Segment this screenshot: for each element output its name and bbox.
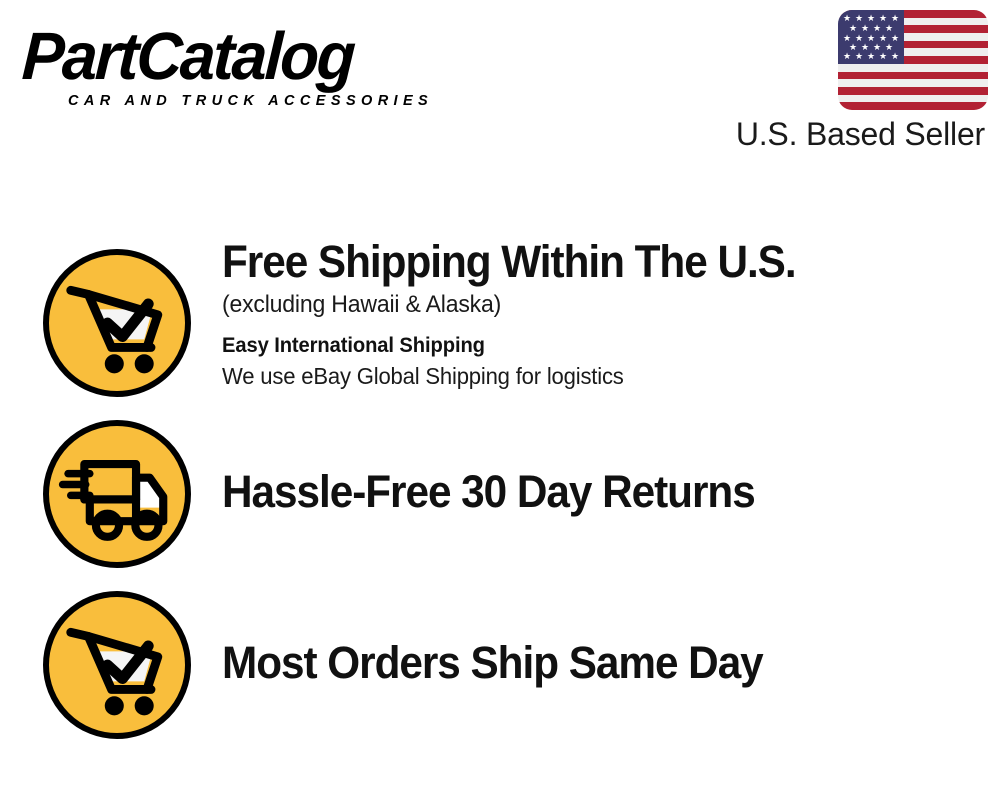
feature-strong-line: Easy International Shipping — [222, 332, 952, 360]
brand-logo-wordmark: PartCatalog — [21, 22, 471, 92]
feature-text-returns: Hassle-Free 30 Day Returns — [222, 467, 982, 517]
brand-logo[interactable]: PartCatalog CAR AND TRUCK ACCESSORIES — [24, 22, 494, 114]
feature-row-free-shipping: Free Shipping Within The U.S. (excluding… — [0, 249, 1000, 409]
feature-title: Hassle-Free 30 Day Returns — [222, 467, 936, 517]
feature-row-returns: Hassle-Free 30 Day Returns — [0, 420, 1000, 580]
feature-text-free-shipping: Free Shipping Within The U.S. (excluding… — [222, 237, 982, 391]
feature-title: Free Shipping Within The U.S. — [222, 237, 936, 287]
promo-banner: PartCatalog CAR AND TRUCK ACCESSORIES ★ … — [0, 0, 1000, 800]
feature-row-same-day-ship: Most Orders Ship Same Day — [0, 591, 1000, 751]
shopping-cart-check-icon — [43, 591, 191, 739]
feature-detail-line: We use eBay Global Shipping for logistic… — [222, 361, 952, 391]
flag-canton: ★ ★ ★ ★ ★ ★ ★ ★ ★ ★ ★ ★ ★ ★ ★ ★ ★ ★ ★ ★ — [838, 10, 904, 64]
us-based-seller-label: U.S. Based Seller — [736, 116, 985, 152]
shopping-cart-check-icon — [43, 249, 191, 397]
feature-title: Most Orders Ship Same Day — [222, 638, 936, 688]
us-flag-icon: ★ ★ ★ ★ ★ ★ ★ ★ ★ ★ ★ ★ ★ ★ ★ ★ ★ ★ ★ ★ — [838, 10, 988, 110]
delivery-truck-icon — [43, 420, 191, 568]
us-flag-badge: ★ ★ ★ ★ ★ ★ ★ ★ ★ ★ ★ ★ ★ ★ ★ ★ ★ ★ ★ ★ — [838, 10, 988, 110]
feature-subtitle: (excluding Hawaii & Alaska) — [222, 290, 952, 320]
feature-text-same-day-ship: Most Orders Ship Same Day — [222, 638, 982, 688]
brand-logo-tagline: CAR AND TRUCK ACCESSORIES — [24, 93, 494, 109]
